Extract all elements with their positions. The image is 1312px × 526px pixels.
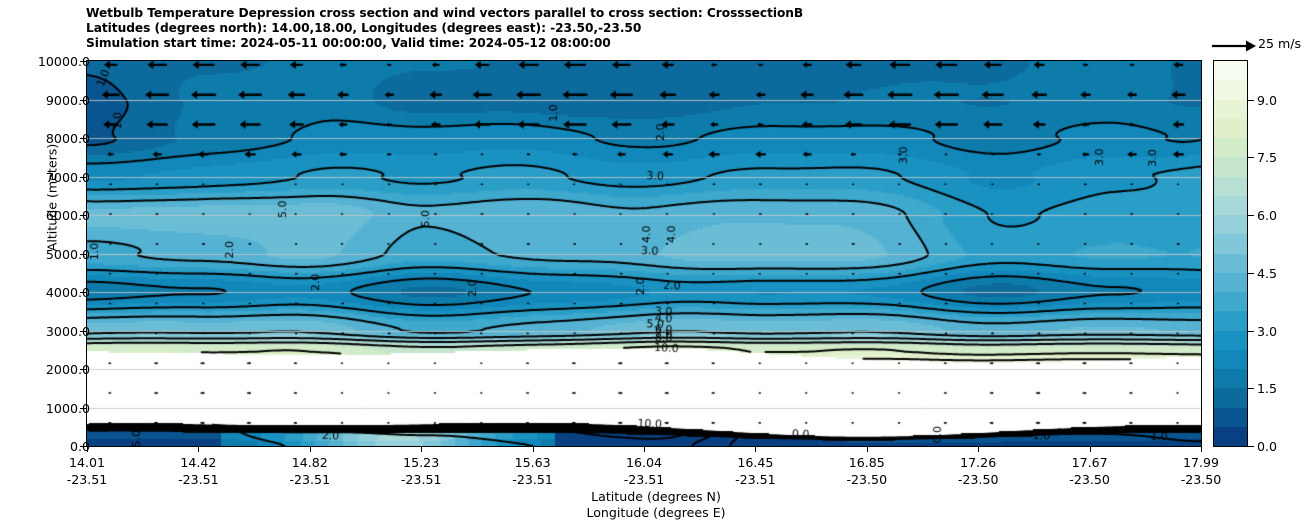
plot-area[interactable] xyxy=(86,60,1202,447)
x-tick-label-longitude: -23.51 xyxy=(27,472,147,487)
colorbar-band xyxy=(1214,254,1247,273)
x-tick-label-longitude: -23.51 xyxy=(695,472,815,487)
y-tick-label: 2000.0 xyxy=(46,362,90,377)
colorbar-band xyxy=(1214,311,1247,330)
colorbar-band xyxy=(1214,119,1247,138)
x-axis-label-longitude: Longitude (degrees E) xyxy=(456,505,856,520)
x-tick-label-latitude: 14.82 xyxy=(250,455,370,470)
x-tick-mark xyxy=(1090,447,1091,452)
colorbar-band xyxy=(1214,292,1247,311)
y-tick-label: 1000.0 xyxy=(46,401,90,416)
x-tick-label-longitude: -23.51 xyxy=(138,472,258,487)
x-tick-label-latitude: 16.85 xyxy=(807,455,927,470)
figure: Wetbulb Temperature Depression cross sec… xyxy=(0,0,1312,526)
colorbar-band xyxy=(1214,331,1247,350)
colorbar-tick-mark xyxy=(1248,215,1254,216)
colorbar-band xyxy=(1214,234,1247,253)
colorbar-band xyxy=(1214,215,1247,234)
colorbar-band xyxy=(1214,273,1247,292)
x-tick-mark xyxy=(533,447,534,452)
y-tick-label: 10000.0 xyxy=(38,54,90,69)
x-tick-label-latitude: 17.26 xyxy=(918,455,1038,470)
wind-key-label: 25 m/s xyxy=(1258,36,1301,51)
colorbar-band xyxy=(1214,408,1247,427)
colorbar[interactable] xyxy=(1213,60,1248,447)
colorbar-tick-mark xyxy=(1248,100,1254,101)
colorbar-tick-mark xyxy=(1248,388,1254,389)
colorbar-tick-mark xyxy=(1248,157,1254,158)
x-tick-label-latitude: 17.67 xyxy=(1030,455,1150,470)
y-tick-label: 3000.0 xyxy=(46,324,90,339)
colorbar-band xyxy=(1214,427,1247,446)
x-tick-mark xyxy=(867,447,868,452)
x-tick-label-latitude: 16.45 xyxy=(695,455,815,470)
x-tick-mark xyxy=(644,447,645,452)
colorbar-band xyxy=(1214,388,1247,407)
x-tick-mark xyxy=(310,447,311,452)
colorbar-tick-mark xyxy=(1248,273,1254,274)
colorbar-band xyxy=(1214,196,1247,215)
y-axis-label: Altitude (meters) xyxy=(45,98,60,298)
colorbar-band xyxy=(1214,157,1247,176)
title-line-3: Simulation start time: 2024-05-11 00:00:… xyxy=(86,36,1206,51)
x-tick-mark xyxy=(421,447,422,452)
x-tick-label-latitude: 16.04 xyxy=(584,455,704,470)
colorbar-band xyxy=(1214,369,1247,388)
title-line-1: Wetbulb Temperature Depression cross sec… xyxy=(86,6,1206,21)
colorbar-tick-label: 0.0 xyxy=(1257,439,1277,454)
right-arrow-icon xyxy=(1212,39,1256,53)
x-tick-label-longitude: -23.51 xyxy=(250,472,370,487)
x-tick-label-latitude: 14.01 xyxy=(27,455,147,470)
title-line-2: Latitudes (degrees north): 14.00,18.00, … xyxy=(86,21,1206,36)
x-tick-label-longitude: -23.51 xyxy=(361,472,481,487)
x-tick-label-latitude: 15.23 xyxy=(361,455,481,470)
colorbar-tick-label: 1.5 xyxy=(1257,381,1277,396)
x-tick-mark xyxy=(1201,447,1202,452)
colorbar-band xyxy=(1214,350,1247,369)
colorbar-tick-label: 9.0 xyxy=(1257,93,1277,108)
x-tick-label-longitude: -23.51 xyxy=(473,472,593,487)
x-axis-label-latitude: Latitude (degrees N) xyxy=(456,489,856,504)
figure-title: Wetbulb Temperature Depression cross sec… xyxy=(86,6,1206,51)
x-tick-mark xyxy=(87,447,88,452)
colorbar-tick-label: 6.0 xyxy=(1257,208,1277,223)
x-tick-mark xyxy=(198,447,199,452)
x-tick-label-latitude: 15.63 xyxy=(473,455,593,470)
x-tick-label-longitude: -23.50 xyxy=(1030,472,1150,487)
x-tick-mark xyxy=(755,447,756,452)
x-tick-label-longitude: -23.50 xyxy=(918,472,1038,487)
colorbar-tick-mark xyxy=(1248,446,1254,447)
colorbar-tick-label: 4.5 xyxy=(1257,266,1277,281)
x-tick-label-latitude: 17.99 xyxy=(1141,455,1261,470)
colorbar-band xyxy=(1214,100,1247,119)
colorbar-band xyxy=(1214,80,1247,99)
colorbar-tick-label: 3.0 xyxy=(1257,324,1277,339)
cross-section-plot xyxy=(87,61,1201,446)
colorbar-tick-label: 7.5 xyxy=(1257,150,1277,165)
wind-vector-key: 25 m/s xyxy=(1212,36,1312,56)
x-tick-label-longitude: -23.50 xyxy=(807,472,927,487)
colorbar-tick-mark xyxy=(1248,331,1254,332)
x-tick-label-latitude: 14.42 xyxy=(138,455,258,470)
x-tick-label-longitude: -23.50 xyxy=(1141,472,1261,487)
x-tick-label-longitude: -23.51 xyxy=(584,472,704,487)
colorbar-band xyxy=(1214,177,1247,196)
colorbar-band xyxy=(1214,61,1247,80)
x-tick-mark xyxy=(978,447,979,452)
colorbar-band xyxy=(1214,138,1247,157)
